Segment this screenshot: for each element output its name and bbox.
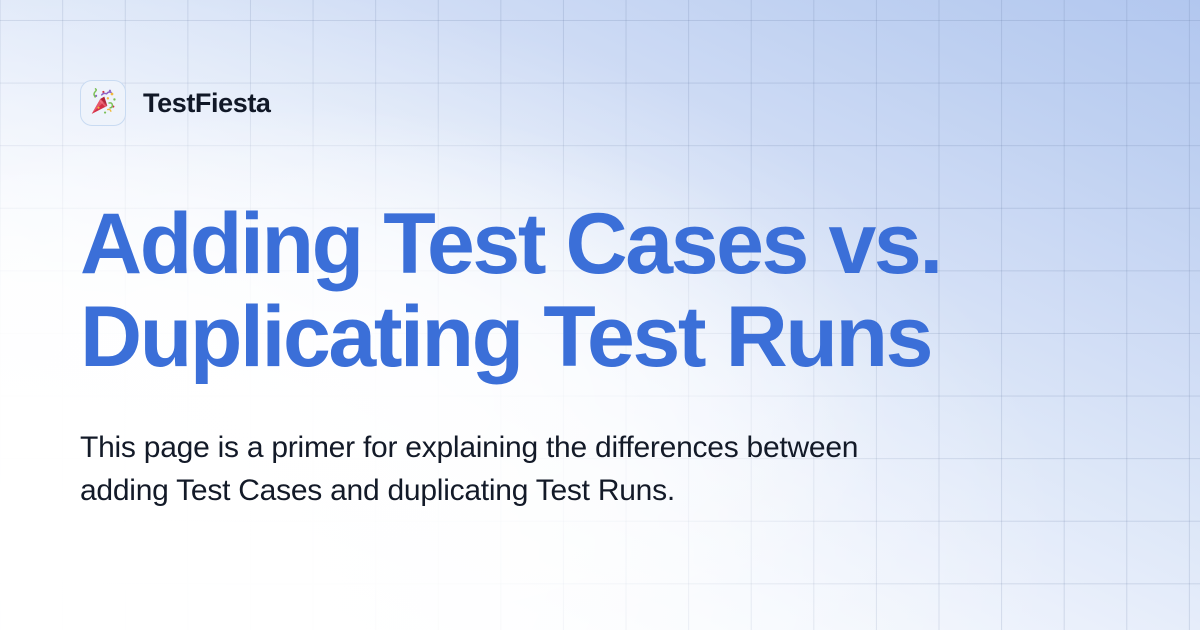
brand-name: TestFiesta xyxy=(143,88,271,119)
hero-content: TestFiesta Adding Test Cases vs. Duplica… xyxy=(0,0,1200,630)
party-popper-icon xyxy=(80,80,126,126)
page-title: Adding Test Cases vs. Duplicating Test R… xyxy=(80,198,1090,384)
page-subtitle: This page is a primer for explaining the… xyxy=(80,426,870,512)
brand-header: TestFiesta xyxy=(80,80,1120,126)
